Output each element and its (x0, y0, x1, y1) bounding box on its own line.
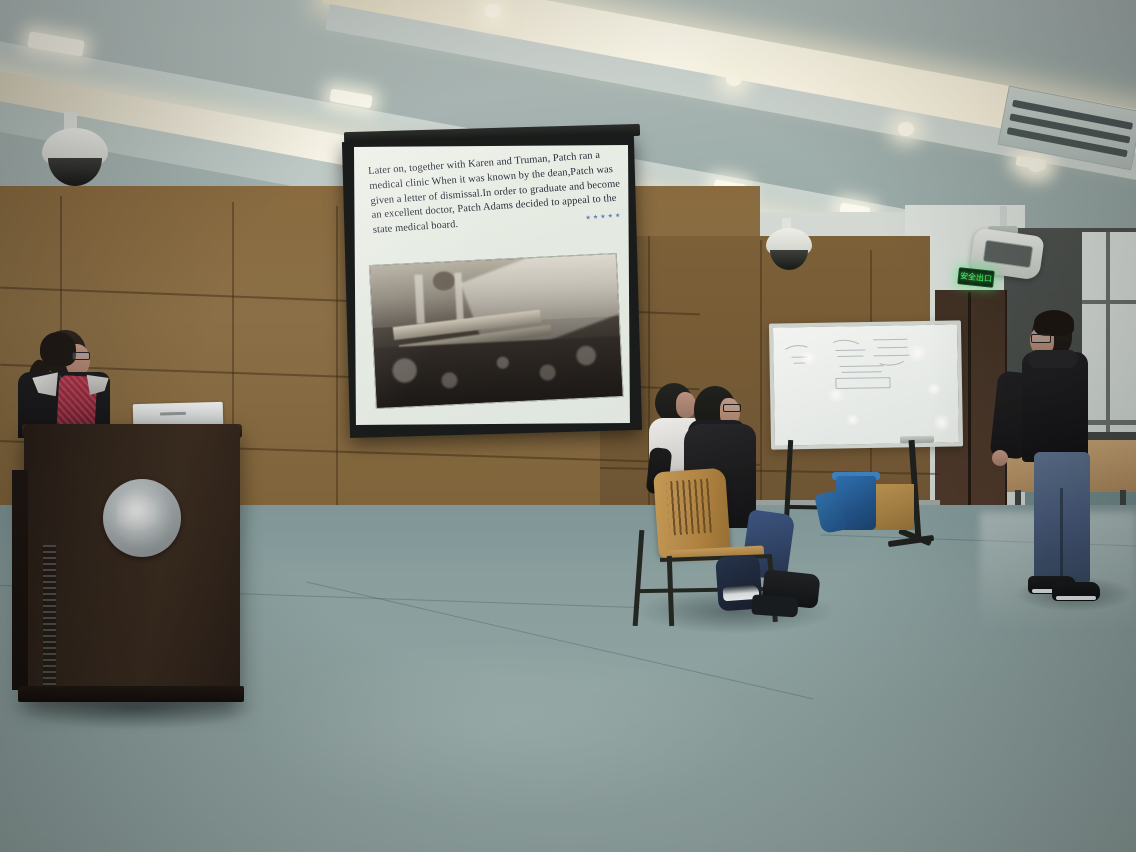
floor-reflection-center (240, 640, 760, 820)
screen-surface: Later on, together with Karen and Truman… (354, 145, 630, 425)
podium-side-panel (12, 470, 28, 690)
exit-sign: 安全出口 (957, 267, 995, 288)
slide-body-text: Later on, together with Karen and Truman… (368, 147, 630, 239)
whiteboard[interactable] (769, 320, 963, 449)
standing-man-shoe-right (1052, 582, 1100, 601)
wall-seam-v5 (760, 240, 762, 520)
standing-man-jeans-seam (1060, 488, 1063, 584)
student-2-glasses (723, 404, 741, 412)
spotlight-3 (898, 122, 914, 136)
spotlight-4 (1028, 158, 1044, 172)
door-seam (968, 292, 971, 514)
slide-photo-audience (374, 336, 623, 408)
standing-man-hand (992, 450, 1008, 466)
circular-university-emblem (103, 479, 181, 557)
standing-man-hair (1034, 310, 1074, 336)
laptop-logo (160, 412, 186, 416)
projection-screen: Later on, together with Karen and Truman… (342, 134, 642, 438)
standing-man-coat (1022, 352, 1088, 462)
whiteboard-glare-6 (934, 411, 948, 435)
whiteboard-marker-tray (900, 436, 934, 444)
wooden-podium (24, 424, 240, 702)
student-1-face (676, 392, 696, 418)
projector-mount-stem (1000, 206, 1007, 228)
speaker-hair (40, 332, 76, 366)
wall-seam-v3 (336, 206, 338, 526)
podium-base (18, 686, 244, 702)
exit-sign-label: 安全出口 (960, 272, 993, 283)
standing-man-glasses (1031, 334, 1051, 343)
window-frame-v1 (1106, 232, 1110, 432)
classroom-photo-scene: 安全出口 Later on, together with Karen and T… (0, 0, 1136, 852)
chair-backrest-slots (666, 479, 714, 536)
speaker-glasses (72, 352, 90, 360)
spotlight-2 (726, 72, 742, 86)
shoe-sole-right (1056, 596, 1096, 600)
spotlight-1 (485, 4, 501, 18)
slide-photo (369, 253, 624, 409)
student-2-boot-2 (751, 594, 798, 617)
standing-man-collar (1028, 350, 1078, 368)
podium-vent-grille (43, 545, 56, 687)
